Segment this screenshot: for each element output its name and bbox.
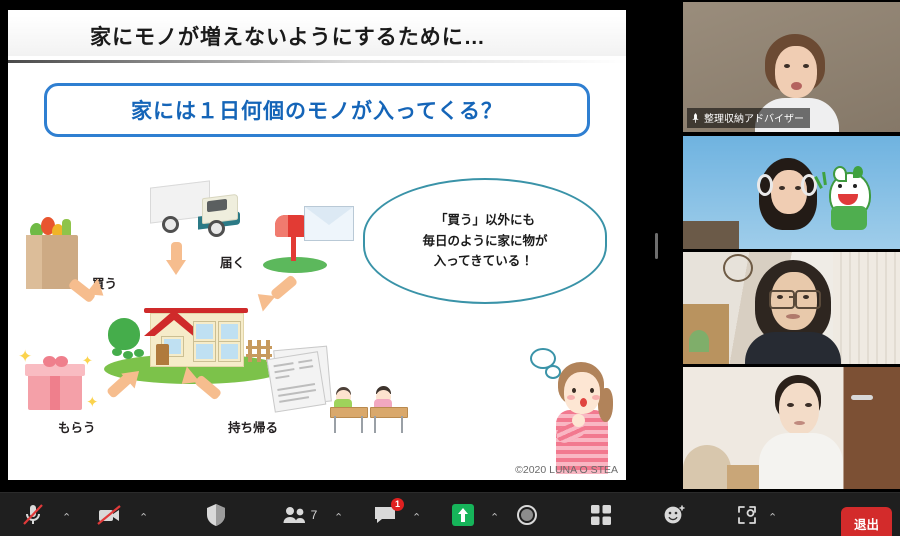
participants-icon [283, 506, 307, 524]
share-screen-icon [452, 504, 474, 526]
share-options-caret[interactable]: ⌃ [490, 511, 499, 524]
video-options-caret[interactable]: ⌃ [139, 511, 148, 524]
more-options-caret[interactable]: ⌃ [768, 511, 777, 524]
share-screen-button[interactable] [442, 493, 484, 536]
video-thumbnail-3[interactable] [683, 252, 900, 364]
participants-count: 7 [311, 508, 318, 522]
thought-bubble-text: 「買う」以外にも毎日のように家に物が入ってきている ！ [422, 210, 547, 272]
reactions-icon [663, 504, 687, 526]
more-apps-button[interactable] [726, 493, 768, 536]
slide-question-box: 家には１日何個のモノが入ってくる？ [44, 83, 590, 137]
video-thumbnail-1[interactable]: 整理収納アドバイザー [683, 2, 900, 132]
pin-icon [691, 113, 700, 123]
slide-title-text: 家にモノが増えないようにするために… [90, 21, 486, 51]
slide-copyright: ©2020 LUNA O STEA [515, 464, 618, 476]
reactions-button[interactable] [654, 493, 696, 536]
shield-icon [205, 503, 227, 527]
security-button[interactable] [195, 493, 237, 536]
delivery-truck-icon [148, 182, 244, 240]
audio-options-caret[interactable]: ⌃ [62, 511, 71, 524]
breakout-rooms-icon [590, 504, 612, 526]
presentation-slide: 家にモノが増えないようにするために… 家には１日何個のモノが入ってくる？ 買う [8, 10, 626, 480]
shared-screen-stage[interactable]: 家にモノが増えないようにするために… 家には１日何個のモノが入ってくる？ 買う [0, 0, 683, 492]
microphone-muted-icon [20, 502, 46, 528]
newspaper-icon [266, 343, 339, 414]
participants-button[interactable]: 7 [272, 493, 328, 536]
record-icon [516, 504, 538, 526]
slide-question-text: 家には１日何個のモノが入ってくる？ [131, 95, 503, 125]
leave-meeting-button[interactable]: 退出 [841, 507, 892, 536]
students-desks-icon [330, 385, 408, 437]
thought-bubble: 「買う」以外にも毎日のように家に物が入ってきている ！ [363, 178, 607, 304]
participant-name-label-1: 整理収納アドバイザー [687, 108, 810, 128]
label-bring-home: 持ち帰る [228, 417, 278, 436]
zoom-meeting-window: 家にモノが増えないようにするために… 家には１日何個のモノが入ってくる？ 買う [0, 0, 900, 536]
participants-video-strip: 整理収納アドバイザー [683, 0, 900, 492]
participants-options-caret[interactable]: ⌃ [334, 511, 343, 524]
slide-title: 家にモノが増えないようにするために… [8, 16, 626, 56]
stop-video-button[interactable] [88, 493, 130, 536]
screen-share-scroll-indicator[interactable] [655, 233, 658, 259]
label-deliver: 届く [220, 252, 245, 271]
video-off-icon [95, 502, 123, 528]
chat-unread-badge: 1 [391, 498, 404, 511]
label-receive: もらう [58, 417, 96, 436]
title-divider [8, 60, 626, 63]
envelope-icon [304, 206, 354, 241]
gift-box-icon [28, 358, 82, 410]
video-thumbnail-4[interactable] [683, 367, 900, 489]
video-thumbnail-2[interactable] [683, 136, 900, 249]
breakout-rooms-button[interactable] [580, 493, 622, 536]
chat-button[interactable]: 1 [364, 493, 406, 536]
thinking-girl-illustration [548, 362, 620, 474]
chat-options-caret[interactable]: ⌃ [412, 511, 421, 524]
record-button[interactable] [506, 493, 548, 536]
sparkle-icon: ✦ [82, 354, 93, 367]
more-apps-icon [735, 504, 759, 526]
participant-name-text-1: 整理収納アドバイザー [704, 110, 804, 125]
sparkle-icon: ✦ [86, 395, 99, 410]
sparkle-icon: ✦ [18, 348, 32, 365]
meeting-toolbar: ⌃ ⌃ 7 ⌃ [0, 492, 900, 536]
mute-audio-button[interactable] [12, 493, 54, 536]
grocery-bag-icon [24, 215, 80, 289]
